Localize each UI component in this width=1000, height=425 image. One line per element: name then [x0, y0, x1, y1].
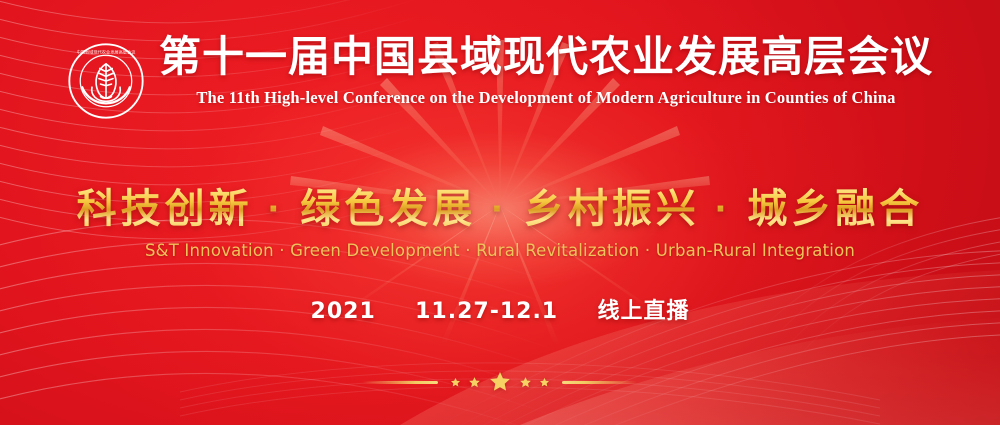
- ornament-line-right: [562, 381, 637, 384]
- event-year: 2021: [311, 299, 376, 324]
- page-title: 第十一届中国县域现代农业发展高层会议: [159, 34, 933, 79]
- event-mode: 线上直播: [597, 299, 689, 324]
- slogan-english: S&T Innovation · Green Development · Rur…: [0, 241, 1000, 260]
- header-text-group: 第十一届中国县域现代农业发展高层会议 The 11th High-level C…: [159, 34, 933, 108]
- star-icon: [488, 370, 512, 394]
- star-icon: [519, 376, 532, 389]
- event-date-range: 11.27-12.1: [415, 299, 558, 324]
- slogan-group: 科技创新 · 绿色发展 · 乡村振兴 · 城乡融合 S&T Innovation…: [0, 176, 1000, 260]
- svg-text:中国县域现代农业发展高层会议: 中国县域现代农业发展高层会议: [77, 49, 137, 56]
- ornament-line-left: [363, 381, 438, 384]
- star-icon: [450, 377, 461, 388]
- star-ornament: [0, 370, 1000, 394]
- banner-header: 中国县域现代农业发展高层会议 第十一届中国县域现代农业发展高层会议 The 11…: [0, 34, 1000, 120]
- conference-seal-logo: 中国县域现代农业发展高层会议: [67, 42, 145, 120]
- page-subtitle-english: The 11th High-level Conference on the De…: [196, 88, 895, 108]
- conference-banner: 中国县域现代农业发展高层会议 第十一届中国县域现代农业发展高层会议 The 11…: [0, 0, 1000, 425]
- slogan-chinese: 科技创新 · 绿色发展 · 乡村振兴 · 城乡融合: [77, 176, 924, 234]
- event-dateline: 2021 11.27-12.1 线上直播: [0, 293, 1000, 325]
- star-icon: [468, 376, 481, 389]
- ornament-stars: [438, 370, 562, 394]
- star-icon: [539, 377, 550, 388]
